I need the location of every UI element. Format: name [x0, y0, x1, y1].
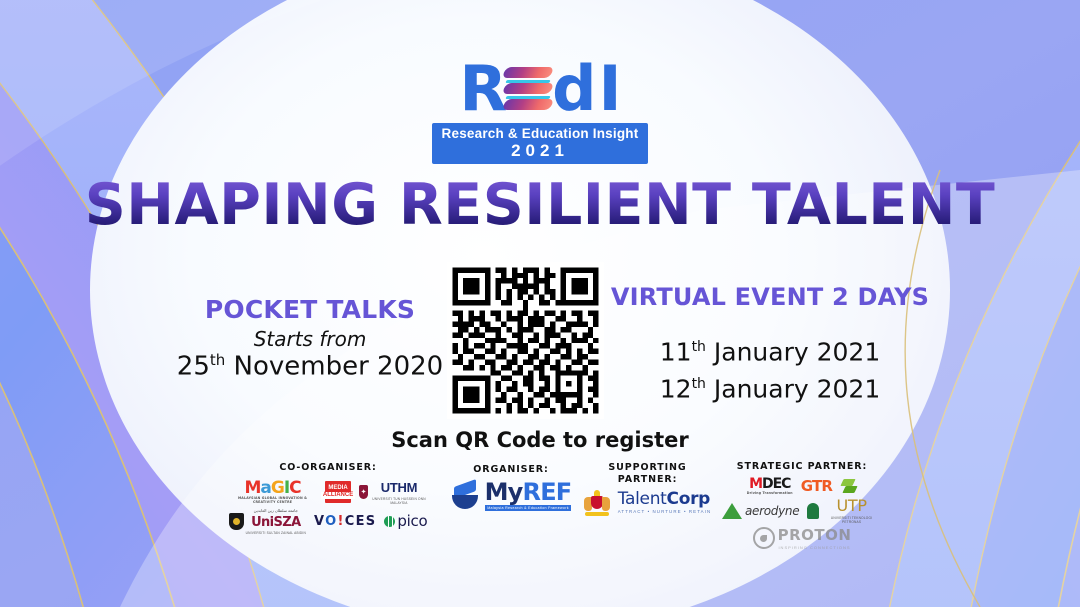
logo-letter-i: I — [599, 59, 621, 119]
logo-letter-r: R — [459, 59, 506, 119]
logo-utp: UTP UNIVERSITI TEKNOLOGI PETRONAS — [807, 498, 882, 524]
event-date-row: 12th January 2021 — [610, 368, 930, 405]
logo-wordmark: R d I — [432, 58, 649, 120]
redi-logo: R d I Research & Education Insight 2021 — [0, 58, 1080, 164]
logo-voices: VO!CES — [314, 514, 376, 529]
event-day: 11 — [660, 337, 692, 366]
logo-magic: MaGIC MALAYSIAN GLOBAL INNOVATION & CREA… — [228, 480, 317, 504]
event-day-suffix: th — [692, 339, 706, 355]
logo-proton-sub: INSPIRING CONNECTIONS — [778, 545, 852, 550]
scan-qr-caption: Scan QR Code to register — [0, 428, 1080, 452]
logo-myref-sub: Malaysia Research & Education Framework — [485, 505, 572, 511]
event-month-year: January 2021 — [706, 337, 880, 366]
co-organiser-title: CO-ORGANISER: — [228, 462, 428, 474]
logo-aerodyne-text: aerodyne — [745, 504, 799, 518]
pocket-talks-day: 25 — [177, 352, 210, 382]
pocket-talks-heading: POCKET TALKS — [150, 295, 470, 324]
strategic-partner-group: STRATEGIC PARTNER: MDEC Driving Transfor… — [722, 461, 882, 553]
pocket-talks-month-year: November 2020 — [225, 352, 443, 382]
logo-myref-text: MyREF — [485, 478, 572, 506]
logo-unisza: جامعة سلطان زين العابدين UniSZA UNIVERSI… — [229, 508, 306, 535]
logo-uthm-text: UTHM — [381, 480, 417, 495]
logo-proton-text: PROTON — [778, 526, 852, 544]
logo-uthm: ✦ UTHM UNIVERSITI TUN HUSSEIN ONN MALAYS… — [359, 479, 428, 505]
logo-green-group — [840, 478, 857, 495]
logo-unisza-text: UniSZA — [251, 515, 301, 530]
logo-gtr: GTR — [801, 479, 832, 493]
myref-cube-icon — [451, 481, 481, 511]
logo-myref: MyREF Malaysia Research & Education Fram… — [451, 481, 572, 511]
logo-talentcorp: TalentCorp ATTRACT • NURTURE • RETAIN — [618, 491, 712, 515]
logo-unisza-arabic: جامعة سلطان زين العابدين — [246, 508, 306, 513]
pocket-talks-date: 25th November 2020 — [150, 351, 470, 382]
aerodyne-chevron-icon — [722, 503, 742, 519]
event-day: 12 — [660, 375, 692, 404]
event-month-year: January 2021 — [706, 375, 880, 404]
logo-tagline: Research & Education Insight — [442, 126, 639, 141]
logo-year: 2021 — [442, 141, 639, 160]
logo-unisza-sub: UNIVERSITI SULTAN ZAINAL ABIDIN — [246, 531, 306, 535]
logo-pico: pico — [384, 512, 427, 530]
organiser-title: ORGANISER: — [436, 464, 586, 476]
proton-tiger-icon — [753, 527, 775, 549]
virtual-event-heading: VIRTUAL EVENT 2 DAYS — [610, 283, 930, 311]
sponsors-section: CO-ORGANISER: MaGIC MALAYSIAN GLOBAL INN… — [0, 462, 1080, 572]
virtual-event-block: VIRTUAL EVENT 2 DAYS 11th January 2021 1… — [610, 283, 930, 406]
logo-utp-text: UTP — [836, 496, 866, 515]
logo-mdec: MDEC Driving Transformation — [747, 478, 793, 495]
logo-mdec-sub: Driving Transformation — [747, 491, 793, 495]
logo-media-lab-alliance: MEDIAALLIANCE — [325, 481, 351, 503]
logo-letter-d: d — [552, 59, 595, 119]
logo-utp-sub: UNIVERSITI TEKNOLOGI PETRONAS — [821, 516, 882, 524]
page-title: SHAPING RESILIENT TALENT — [0, 172, 1080, 238]
utp-tower-icon — [807, 503, 819, 519]
pico-globe-icon — [384, 516, 395, 527]
unisza-crest-icon — [229, 513, 244, 530]
qr-code-icon[interactable] — [447, 262, 604, 419]
event-poster: R d I Research & Education Insight 2021 — [0, 0, 1080, 607]
logo-uthm-sub: UNIVERSITI TUN HUSSEIN ONN MALAYSIA — [370, 497, 428, 505]
logo-proton: PROTON INSPIRING CONNECTIONS — [753, 527, 852, 550]
uthm-shield-icon: ✦ — [359, 485, 368, 499]
pocket-talks-day-suffix: th — [210, 351, 225, 369]
supporting-partner-group: SUPPORTING PARTNER: TalentCorp ATTRACT •… — [570, 462, 725, 519]
pocket-talks-block: POCKET TALKS Starts from 25th November 2… — [150, 295, 470, 382]
logo-pico-text: pico — [397, 512, 427, 530]
supporting-partner-title: SUPPORTING PARTNER: — [570, 462, 725, 485]
event-day-suffix: th — [692, 376, 706, 392]
logo-stylized-e-icon — [506, 63, 552, 115]
logo-subtitle-band: Research & Education Insight 2021 — [432, 123, 649, 164]
organiser-group: ORGANISER: MyREF Malaysia Research & Edu… — [436, 464, 586, 514]
logo-talentcorp-sub: ATTRACT • NURTURE • RETAIN — [618, 509, 712, 515]
co-organiser-group: CO-ORGANISER: MaGIC MALAYSIAN GLOBAL INN… — [228, 462, 428, 538]
logo-aerodyne: aerodyne — [722, 503, 799, 519]
strategic-partner-title: STRATEGIC PARTNER: — [722, 461, 882, 473]
event-date-row: 11th January 2021 — [610, 331, 930, 368]
logo-talentcorp-text: TalentCorp — [618, 489, 710, 509]
logo-magic-sub: MALAYSIAN GLOBAL INNOVATION & CREATIVITY… — [228, 496, 317, 504]
starts-from-label: Starts from — [150, 327, 470, 351]
jata-negara-icon — [584, 490, 610, 516]
